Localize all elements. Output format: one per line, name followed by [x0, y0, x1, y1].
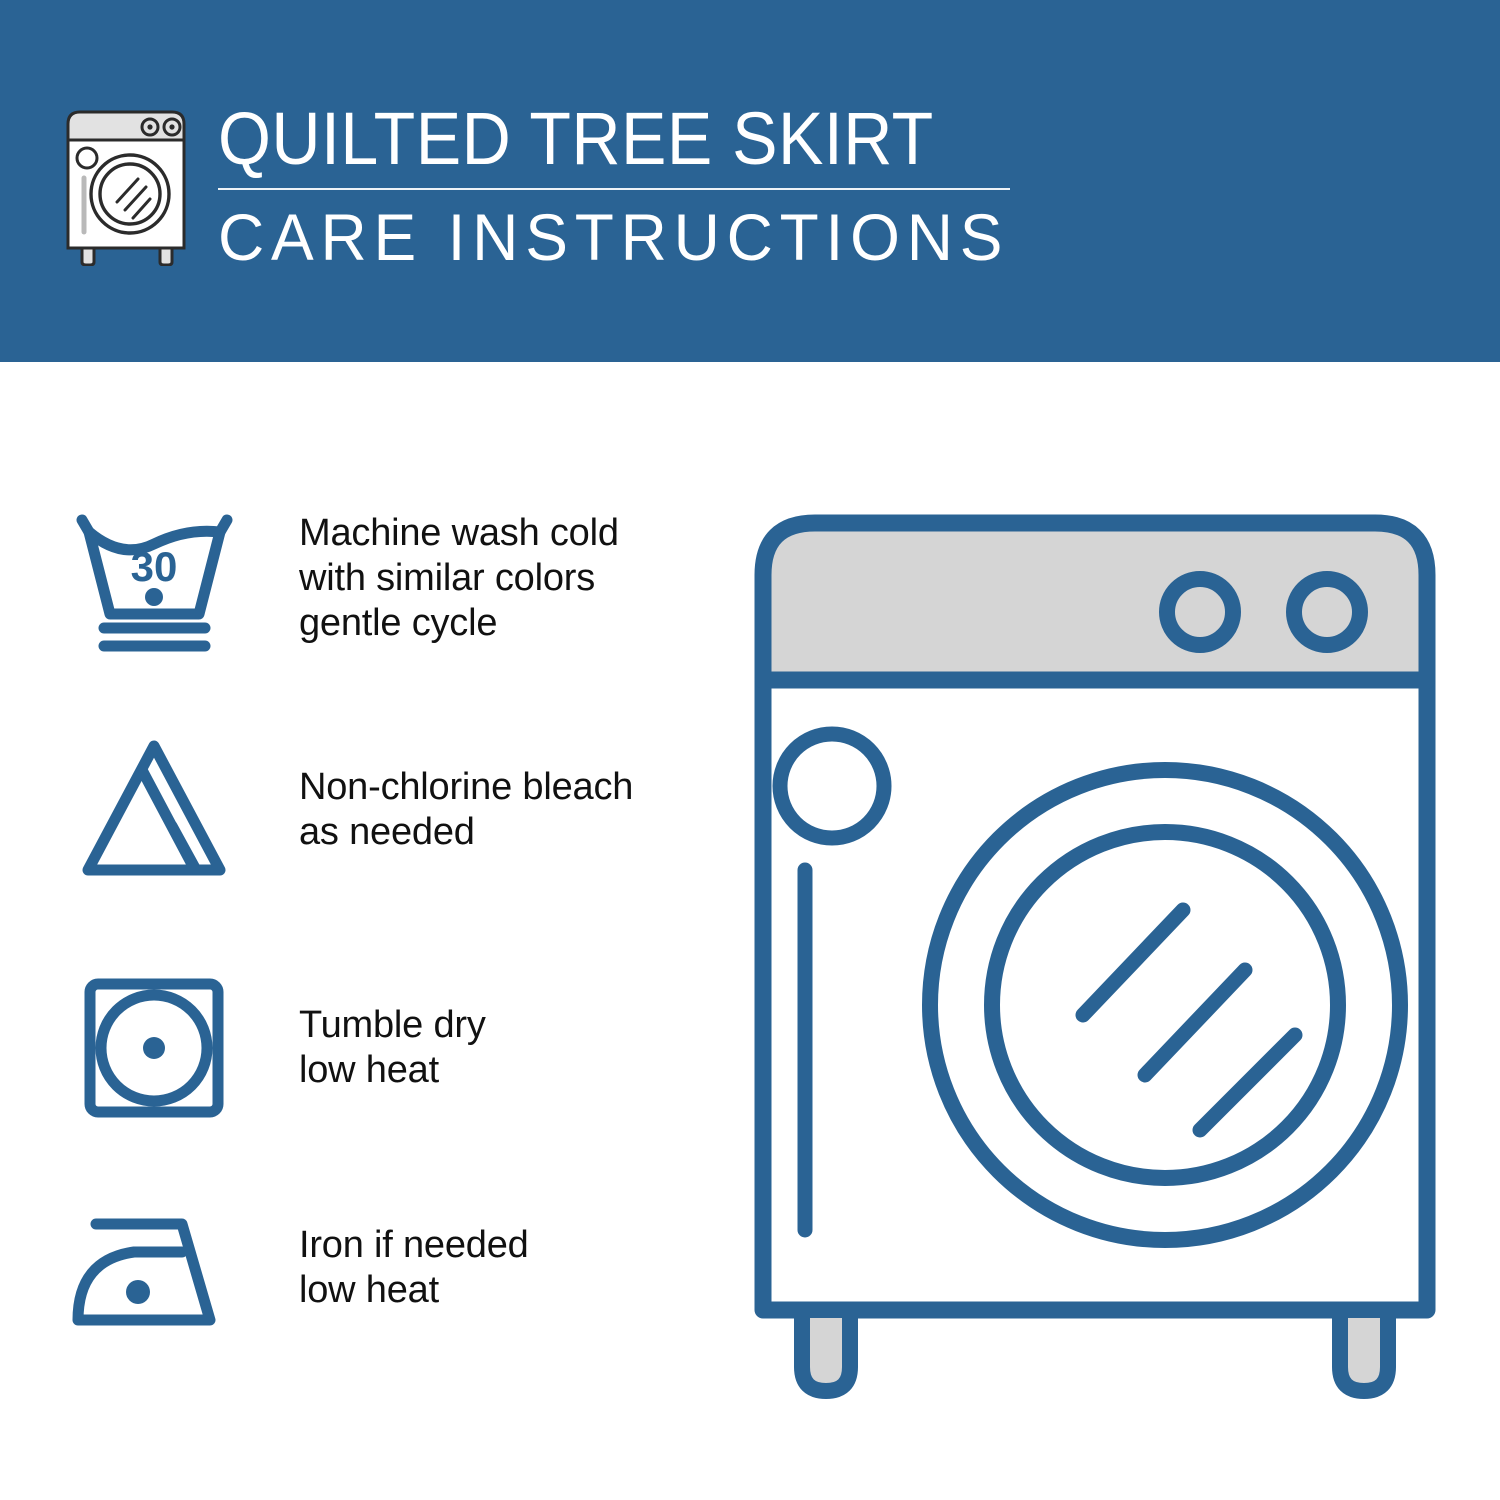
header-text-block: QUILTED TREE SKIRT CARE INSTRUCTIONS [218, 96, 1018, 274]
wash-basin-30-gentle-icon: 30 [62, 498, 247, 658]
non-chlorine-bleach-triangle-icon [62, 730, 247, 890]
care-text-line: with similar colors [299, 556, 702, 601]
care-instruction-text: Non-chlorine bleach as needed [247, 765, 702, 855]
care-text-line: low heat [299, 1048, 702, 1093]
care-instruction-text: Iron if needed low heat [247, 1223, 702, 1313]
care-text-line: Tumble dry [299, 1003, 702, 1048]
header-divider [218, 188, 1010, 190]
page-subtitle: CARE INSTRUCTIONS [218, 200, 994, 274]
tumble-dry-low-heat-icon [62, 968, 247, 1128]
care-text-line: low heat [299, 1268, 702, 1313]
care-instruction-row: Tumble dry low heat [62, 968, 702, 1128]
care-instruction-text: Machine wash cold with similar colors ge… [247, 511, 702, 646]
care-text-line: Non-chlorine bleach [299, 765, 702, 810]
care-text-line: Iron if needed [299, 1223, 702, 1268]
care-instruction-text: Tumble dry low heat [247, 1003, 702, 1093]
care-text-line: gentle cycle [299, 601, 702, 646]
front-load-washing-machine-illustration [745, 505, 1445, 1405]
page-title: QUILTED TREE SKIRT [218, 96, 954, 182]
iron-low-heat-icon [62, 1188, 247, 1348]
care-instruction-row: Non-chlorine bleach as needed [62, 730, 702, 890]
header-banner: QUILTED TREE SKIRT CARE INSTRUCTIONS [0, 0, 1500, 362]
care-instruction-row: 30 Machine wash cold with similar colors… [62, 498, 702, 658]
care-instruction-row: Iron if needed low heat [62, 1188, 702, 1348]
wash-temperature-value: 30 [131, 543, 178, 590]
washing-machine-icon [62, 106, 194, 266]
care-text-line: as needed [299, 810, 702, 855]
care-text-line: Machine wash cold [299, 511, 702, 556]
